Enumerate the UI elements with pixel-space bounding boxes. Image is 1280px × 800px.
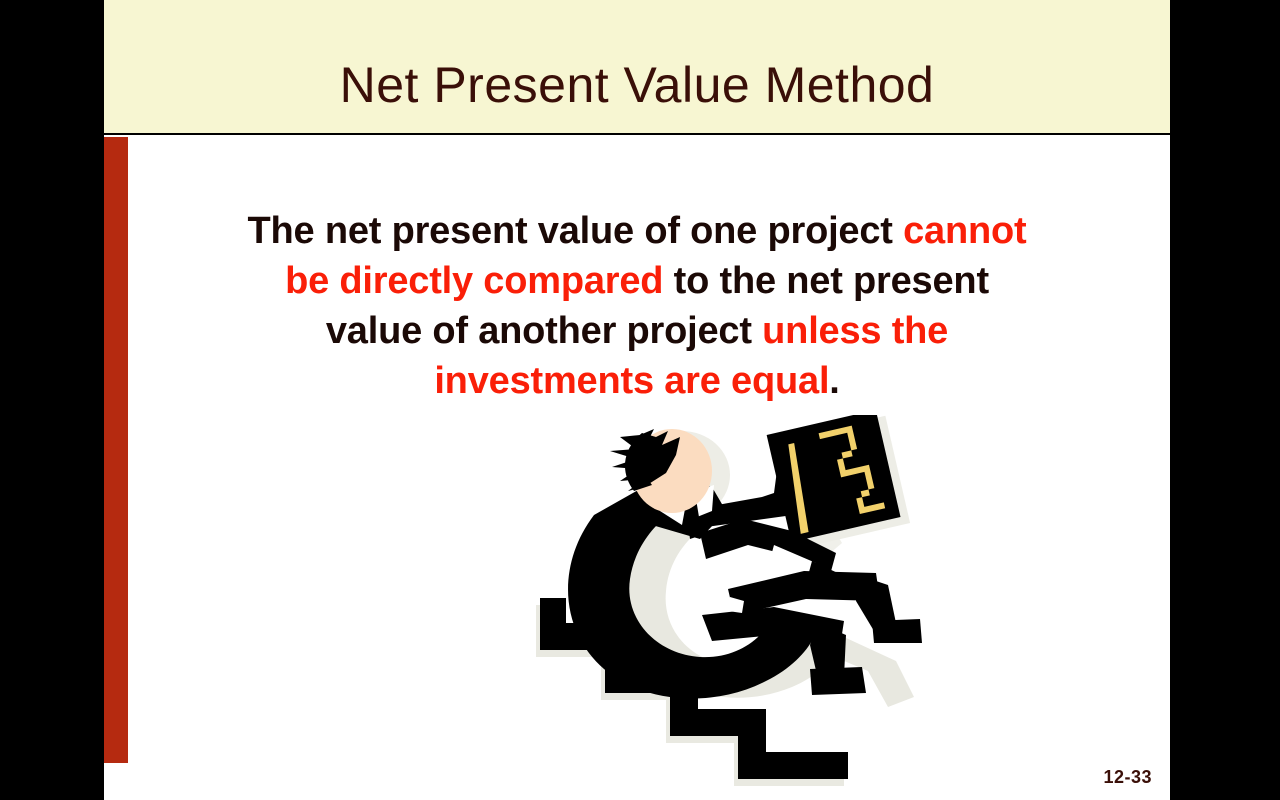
body-segment: to the net present [663, 260, 989, 302]
slide-page-number: 12-33 [1103, 767, 1152, 788]
body-text-line: The net present value of one project can… [164, 206, 1110, 256]
body-text-line: value of another project unless the [164, 306, 1110, 356]
body-segment-highlight: cannot [903, 210, 1026, 252]
body-segment-highlight: investments are equal [434, 360, 829, 402]
body-text-line: investments are equal. [164, 356, 1110, 406]
body-segment-highlight: unless the [762, 310, 948, 352]
left-accent-bar [104, 137, 128, 763]
body-segment: . [829, 360, 839, 402]
presentation-slide: Net Present Value Method The net present… [104, 0, 1170, 800]
screen-letterbox: Net Present Value Method The net present… [0, 0, 1280, 800]
body-segment: The net present value of one project [248, 210, 904, 252]
body-text-line: be directly compared to the net present [164, 256, 1110, 306]
body-segment: value of another project [326, 310, 762, 352]
slide-body-text: The net present value of one project can… [164, 206, 1110, 406]
page-title: Net Present Value Method [104, 60, 1170, 110]
body-segment-highlight: be directly compared [285, 260, 663, 302]
chart-board-icon [767, 415, 910, 550]
businessman-falling-down-stairs-illustration [444, 415, 944, 800]
slide-header-banner: Net Present Value Method [104, 0, 1170, 135]
